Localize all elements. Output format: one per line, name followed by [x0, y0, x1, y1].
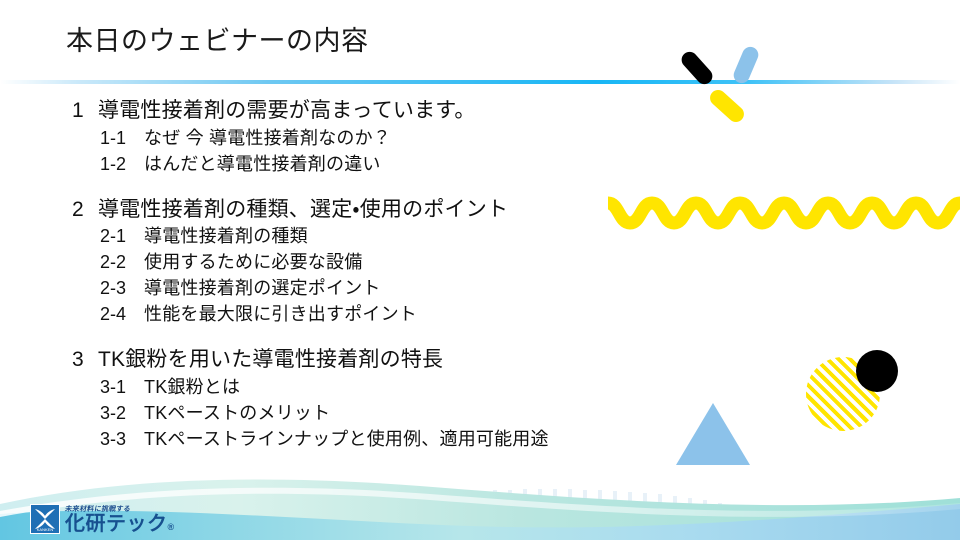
- svg-text:KANKEN: KANKEN: [37, 527, 54, 532]
- decor-yellow-sine-wave: [608, 190, 960, 236]
- decor-blue-triangle: [676, 403, 750, 465]
- logo-tagline: 未来材料に挑戦する: [64, 506, 175, 513]
- agenda-subitem-3-1-number: 3-1: [100, 375, 144, 401]
- agenda-subitem-3-3: 3-3 TKペーストラインナップと使用例、適用可能用途: [0, 427, 640, 453]
- agenda-subitem-1-2-label: はんだと導電性接着剤の違い: [144, 152, 381, 178]
- agenda-group-3: 3 TK銀粉を用いた導電性接着剤の特長 3-1 TK銀粉とは 3-2 TKペース…: [0, 345, 640, 453]
- agenda-item-3: 3 TK銀粉を用いた導電性接着剤の特長: [0, 345, 640, 375]
- agenda-item-2-label: 導電性接着剤の種類、選定・使用のポイント: [98, 195, 508, 225]
- agenda-group-2: 2 導電性接着剤の種類、選定・使用のポイント 2-1 導電性接着剤の種類 2-2…: [0, 195, 640, 328]
- agenda-subitem-3-2: 3-2 TKペーストのメリット: [0, 401, 640, 427]
- footer-decorative-band: KANKEN 未来材料に挑戦する 化研テック®: [0, 470, 960, 540]
- agenda-subitem-2-3: 2-3 導電性接着剤の選定ポイント: [0, 276, 640, 302]
- agenda-subitem-2-2-label: 使用するために必要な設備: [144, 250, 362, 276]
- company-logo: KANKEN 未来材料に挑戦する 化研テック®: [30, 500, 175, 534]
- agenda-item-1-number: 1: [72, 96, 98, 126]
- agenda-item-2-number: 2: [72, 195, 98, 225]
- logo-registered-mark: ®: [168, 522, 175, 532]
- agenda-subitem-1-2-number: 1-2: [100, 152, 144, 178]
- agenda-subitem-1-1: 1-1 なぜ 今 導電性接着剤なのか？: [0, 126, 640, 152]
- logo-x-glyph: KANKEN: [31, 505, 59, 533]
- agenda-item-2: 2 導電性接着剤の種類、選定・使用のポイント: [0, 195, 640, 225]
- agenda-item-3-label: TK銀粉を用いた導電性接着剤の特長: [98, 345, 443, 375]
- logo-text-block: 未来材料に挑戦する 化研テック®: [65, 506, 175, 534]
- agenda-subitem-3-3-number: 3-3: [100, 427, 144, 453]
- agenda-item-1: 1 導電性接着剤の需要が高まっています。: [0, 96, 640, 126]
- agenda-subitem-2-4: 2-4 性能を最大限に引き出すポイント: [0, 302, 640, 328]
- logo-company-name: 化研テック®: [65, 514, 175, 534]
- agenda-subitem-2-3-number: 2-3: [100, 276, 144, 302]
- agenda-subitem-3-1-label: TK銀粉とは: [144, 375, 240, 401]
- agenda-subitem-2-2-number: 2-2: [100, 250, 144, 276]
- agenda-item-1-label: 導電性接着剤の需要が高まっています。: [98, 96, 476, 126]
- agenda-subitem-1-1-number: 1-1: [100, 126, 144, 152]
- agenda-subitem-3-1: 3-1 TK銀粉とは: [0, 375, 640, 401]
- agenda-subitem-3-2-number: 3-2: [100, 401, 144, 427]
- agenda-subitem-2-3-label: 導電性接着剤の選定ポイント: [144, 276, 381, 302]
- agenda-subitem-2-4-number: 2-4: [100, 302, 144, 328]
- agenda-group-1: 1 導電性接着剤の需要が高まっています。 1-1 なぜ 今 導電性接着剤なのか？…: [0, 96, 640, 178]
- agenda-subitem-2-1-label: 導電性接着剤の種類: [144, 224, 308, 250]
- agenda-subitem-1-2: 1-2 はんだと導電性接着剤の違い: [0, 152, 640, 178]
- slide-canvas: 本日のウェビナーの内容 1 導電性接着剤の需要が高まっています。 1-1 なぜ …: [0, 0, 960, 540]
- logo-company-name-text: 化研テック: [65, 513, 168, 535]
- agenda-subitem-2-2: 2-2 使用するために必要な設備: [0, 250, 640, 276]
- agenda-subitem-2-4-label: 性能を最大限に引き出すポイント: [144, 302, 417, 328]
- header-divider-rule: [0, 80, 960, 84]
- agenda-subitem-2-1: 2-1 導電性接着剤の種類: [0, 224, 640, 250]
- agenda-subitem-3-3-label: TKペーストラインナップと使用例、適用可能用途: [144, 427, 549, 453]
- agenda-item-3-number: 3: [72, 345, 98, 375]
- decor-bar-yellow: [707, 87, 747, 126]
- agenda-subitem-3-2-label: TKペーストのメリット: [144, 401, 330, 427]
- agenda-subitem-2-1-number: 2-1: [100, 224, 144, 250]
- logo-mark-icon: KANKEN: [30, 504, 60, 534]
- page-title: 本日のウェビナーの内容: [66, 25, 369, 57]
- decor-black-circle: [856, 350, 898, 392]
- agenda-list: 1 導電性接着剤の需要が高まっています。 1-1 なぜ 今 導電性接着剤なのか？…: [0, 96, 640, 453]
- agenda-subitem-1-1-label: なぜ 今 導電性接着剤なのか？: [144, 126, 391, 152]
